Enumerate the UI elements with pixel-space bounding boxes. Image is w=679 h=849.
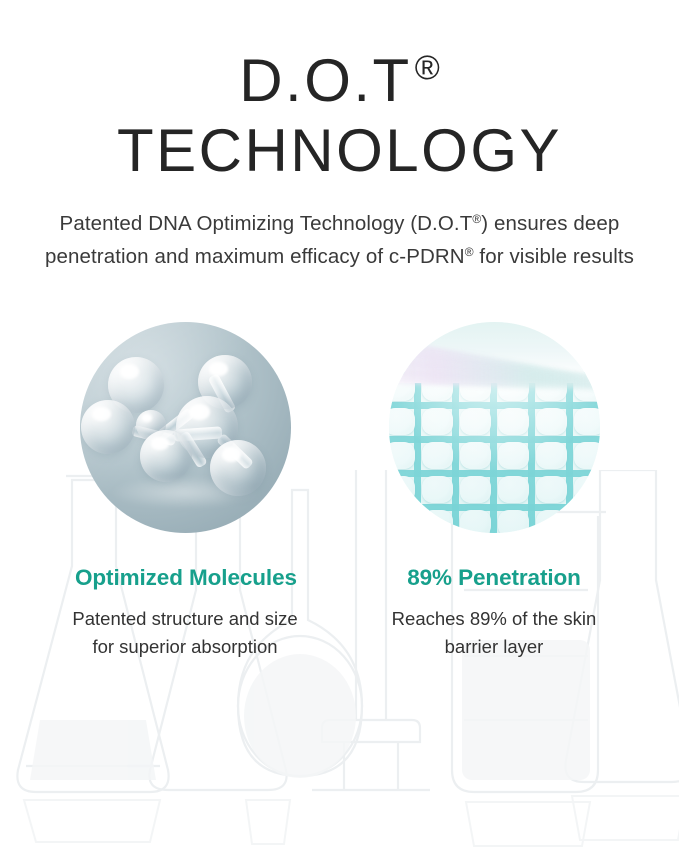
feature-body: Patented structure and size for superior… (67, 605, 303, 661)
title-line-2: TECHNOLOGY (0, 116, 679, 186)
intro-part-1: Patented DNA Optimizing Technology (D.O.… (60, 212, 473, 235)
feature-body: Reaches 89% of the skin barrier layer (376, 605, 612, 661)
surface-layer (389, 322, 600, 383)
dot-technology-infographic: D.O.T® TECHNOLOGY Patented DNA Optimizin… (0, 0, 679, 849)
skin-penetration-illustration (389, 322, 600, 533)
registered-mark-icon: ® (465, 245, 474, 259)
intro-part-3: for visible results (474, 245, 634, 268)
feature-row: Optimized Molecules Patented structure a… (0, 322, 679, 661)
registered-mark-icon: ® (415, 49, 440, 87)
title-line-1: D.O.T® (0, 46, 679, 116)
intro-paragraph: Patented DNA Optimizing Technology (D.O.… (40, 207, 640, 273)
feature-heading: Optimized Molecules (75, 564, 291, 591)
feature-penetration: 89% Penetration Reaches 89% of the skin … (388, 322, 600, 661)
feature-heading: 89% Penetration (388, 564, 600, 591)
title-line-1-text: D.O.T (239, 47, 412, 114)
registered-mark-icon: ® (472, 212, 481, 226)
optimized-molecules-illustration (80, 322, 291, 533)
page-title: D.O.T® TECHNOLOGY (0, 0, 679, 185)
feature-optimized-molecules: Optimized Molecules Patented structure a… (79, 322, 291, 661)
disc-sheen (80, 322, 291, 533)
